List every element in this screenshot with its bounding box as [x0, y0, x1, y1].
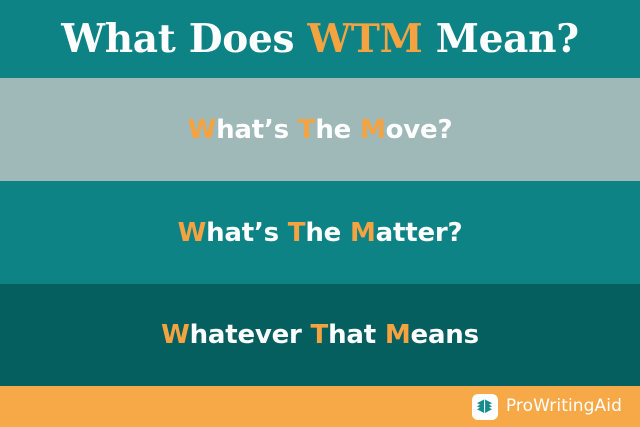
initial-w: W [188, 115, 216, 145]
page-title-acronym: WTM [307, 16, 422, 62]
word-1-rest: hat’s [216, 115, 298, 145]
page-title-prefix: What Does [61, 16, 307, 62]
word-1-rest: hatever [190, 320, 311, 350]
footer-bar: ProWritingAid [0, 386, 640, 427]
initial-w: W [161, 320, 189, 350]
word-2-rest: he [315, 115, 360, 145]
initial-m: M [350, 218, 376, 248]
word-2-rest: he [305, 218, 350, 248]
meaning-text-1: What’s The Move? [188, 117, 453, 143]
word-1-rest: hat’s [206, 218, 288, 248]
infographic-canvas: What Does WTM Mean? What’s The Move? Wha… [0, 0, 640, 427]
meaning-text-3: Whatever That Means [161, 322, 479, 348]
meaning-band-1: What’s The Move? [0, 78, 640, 181]
initial-w: W [178, 218, 206, 248]
initial-t: T [288, 218, 306, 248]
header-banner: What Does WTM Mean? [0, 0, 640, 78]
brand-name: ProWritingAid [506, 398, 622, 415]
meaning-band-3: Whatever That Means [0, 284, 640, 386]
initial-m: M [360, 115, 386, 145]
word-2-rest: hat [328, 320, 385, 350]
meaning-text-2: What’s The Matter? [178, 220, 463, 246]
brand-lockup: ProWritingAid [472, 394, 622, 420]
initial-m: M [385, 320, 411, 350]
word-3-rest: atter? [376, 218, 463, 248]
word-3-rest: eans [411, 320, 479, 350]
page-title-suffix: Mean? [423, 16, 579, 62]
meaning-band-2: What’s The Matter? [0, 181, 640, 284]
word-3-rest: ove? [386, 115, 453, 145]
page-title: What Does WTM Mean? [61, 20, 579, 59]
initial-t: T [298, 115, 316, 145]
initial-t: T [311, 320, 329, 350]
stacked-book-icon [472, 394, 498, 420]
